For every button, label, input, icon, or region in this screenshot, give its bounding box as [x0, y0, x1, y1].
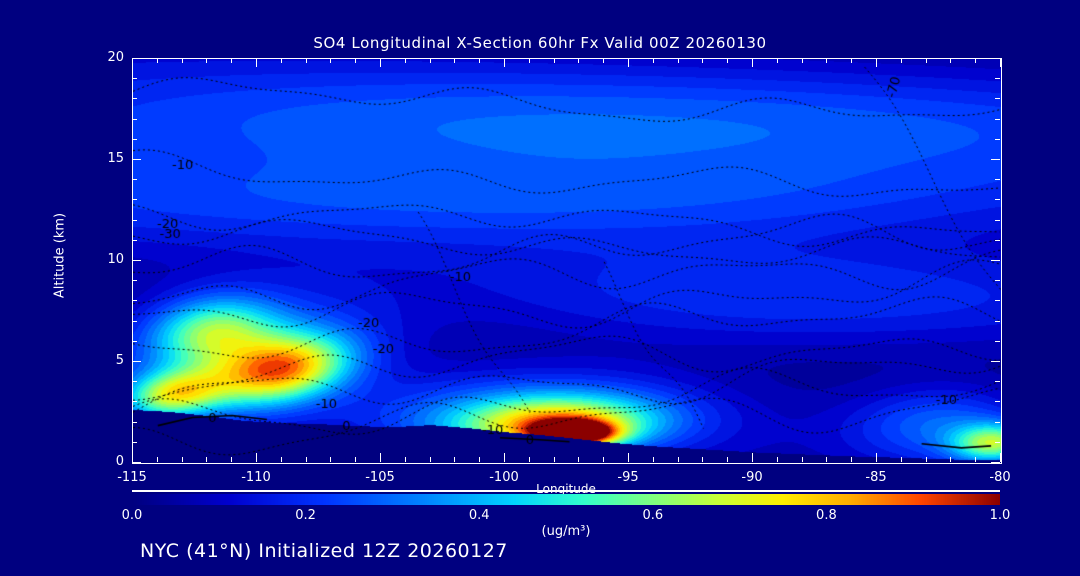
- axis-tick-mark: [995, 199, 1000, 200]
- axis-tick-mark: [281, 457, 282, 462]
- axis-tick-mark: [653, 58, 654, 63]
- axis-tick-mark: [529, 457, 530, 462]
- axis-tick-mark: [678, 457, 679, 462]
- axis-tick-mark: [132, 78, 137, 79]
- y-tick-label: 0: [84, 454, 124, 469]
- axis-tick-mark: [995, 381, 1000, 382]
- colorbar-tick-label: 0.6: [623, 508, 683, 523]
- colorbar-tick-label: 1.0: [970, 508, 1030, 523]
- axis-tick-mark: [851, 58, 852, 63]
- axis-tick-mark: [132, 260, 141, 261]
- axis-tick-mark: [504, 58, 505, 67]
- axis-tick-mark: [727, 457, 728, 462]
- axis-tick-mark: [355, 457, 356, 462]
- x-tick-label: -95: [598, 470, 658, 485]
- axis-tick-mark: [991, 58, 1000, 59]
- axis-tick-mark: [529, 58, 530, 63]
- axis-tick-mark: [330, 457, 331, 462]
- axis-tick-mark: [975, 58, 976, 63]
- axis-tick-mark: [454, 457, 455, 462]
- axis-tick-mark: [132, 442, 137, 443]
- x-tick-label: -105: [350, 470, 410, 485]
- axis-tick-mark: [991, 260, 1000, 261]
- axis-tick-mark: [950, 58, 951, 63]
- axis-tick-mark: [182, 457, 183, 462]
- axis-tick-mark: [132, 381, 137, 382]
- axis-tick-mark: [995, 98, 1000, 99]
- axis-tick-mark: [554, 457, 555, 462]
- axis-tick-mark: [777, 58, 778, 63]
- colorbar-tick-label: 0.0: [102, 508, 162, 523]
- axis-tick-mark: [876, 58, 877, 67]
- axis-tick-mark: [479, 58, 480, 63]
- x-tick-label: -100: [474, 470, 534, 485]
- axis-tick-mark: [628, 453, 629, 462]
- axis-tick-mark: [231, 457, 232, 462]
- axis-tick-mark: [995, 220, 1000, 221]
- axis-tick-mark: [991, 462, 1000, 463]
- axis-tick-mark: [132, 58, 133, 67]
- axis-tick-mark: [995, 341, 1000, 342]
- axis-tick-mark: [1000, 453, 1001, 462]
- axis-tick-mark: [306, 58, 307, 63]
- axis-tick-mark: [132, 280, 137, 281]
- axis-tick-mark: [132, 220, 137, 221]
- axis-tick-mark: [256, 453, 257, 462]
- chart-title: SO4 Longitudinal X-Section 60hr Fx Valid…: [0, 34, 1080, 52]
- axis-tick-mark: [380, 58, 381, 67]
- axis-tick-mark: [991, 361, 1000, 362]
- x-tick-label: -90: [722, 470, 782, 485]
- axis-tick-mark: [206, 58, 207, 63]
- axis-tick-mark: [603, 457, 604, 462]
- axis-tick-mark: [430, 58, 431, 63]
- axis-tick-mark: [826, 58, 827, 63]
- axis-tick-mark: [995, 139, 1000, 140]
- axis-tick-mark: [182, 58, 183, 63]
- y-tick-label: 20: [84, 50, 124, 65]
- axis-tick-mark: [231, 58, 232, 63]
- axis-tick-mark: [991, 159, 1000, 160]
- axis-tick-mark: [132, 199, 137, 200]
- x-tick-label: -80: [970, 470, 1030, 485]
- chart-caption: NYC (41°N) Initialized 12Z 20260127: [140, 540, 508, 562]
- axis-tick-mark: [702, 58, 703, 63]
- x-tick-label: -85: [846, 470, 906, 485]
- axis-tick-mark: [678, 58, 679, 63]
- axis-tick-mark: [504, 453, 505, 462]
- axis-tick-mark: [554, 58, 555, 63]
- axis-tick-mark: [157, 457, 158, 462]
- axis-tick-mark: [901, 58, 902, 63]
- axis-tick-mark: [802, 457, 803, 462]
- axis-tick-mark: [256, 58, 257, 67]
- axis-tick-mark: [926, 457, 927, 462]
- axis-tick-mark: [578, 58, 579, 63]
- axis-tick-mark: [995, 179, 1000, 180]
- axis-tick-mark: [876, 453, 877, 462]
- axis-tick-mark: [995, 422, 1000, 423]
- axis-tick-mark: [355, 58, 356, 63]
- axis-tick-mark: [995, 119, 1000, 120]
- axis-tick-mark: [995, 240, 1000, 241]
- axis-tick-mark: [132, 179, 137, 180]
- axis-tick-mark: [926, 58, 927, 63]
- axis-tick-mark: [628, 58, 629, 67]
- colorbar-tick-label: 0.8: [796, 508, 856, 523]
- axis-tick-mark: [727, 58, 728, 63]
- plot-area: [132, 58, 1002, 464]
- axis-tick-mark: [132, 422, 137, 423]
- contour-field-canvas: [133, 59, 1001, 463]
- axis-tick-mark: [995, 401, 1000, 402]
- axis-tick-mark: [132, 119, 137, 120]
- axis-tick-mark: [157, 58, 158, 63]
- colorbar: [132, 494, 1000, 505]
- axis-tick-mark: [901, 457, 902, 462]
- colorbar-units: (ug/m³): [132, 524, 1000, 539]
- x-tick-label: -110: [226, 470, 286, 485]
- axis-tick-mark: [1000, 58, 1001, 67]
- colorbar-top-rule: [132, 490, 1000, 492]
- axis-tick-mark: [430, 457, 431, 462]
- axis-tick-mark: [132, 462, 141, 463]
- axis-tick-mark: [306, 457, 307, 462]
- axis-tick-mark: [132, 159, 141, 160]
- axis-tick-mark: [578, 457, 579, 462]
- axis-tick-mark: [851, 457, 852, 462]
- axis-tick-mark: [752, 453, 753, 462]
- axis-tick-mark: [995, 78, 1000, 79]
- axis-tick-mark: [132, 240, 137, 241]
- axis-tick-mark: [132, 401, 137, 402]
- y-axis-label: Altitude (km): [53, 186, 68, 326]
- axis-tick-mark: [950, 457, 951, 462]
- y-tick-label: 5: [84, 353, 124, 368]
- axis-tick-mark: [405, 457, 406, 462]
- axis-tick-mark: [405, 58, 406, 63]
- axis-tick-mark: [975, 457, 976, 462]
- axis-tick-mark: [995, 300, 1000, 301]
- axis-tick-mark: [132, 139, 137, 140]
- axis-tick-mark: [995, 442, 1000, 443]
- axis-tick-mark: [454, 58, 455, 63]
- axis-tick-mark: [132, 341, 137, 342]
- axis-tick-mark: [330, 58, 331, 63]
- axis-tick-mark: [777, 457, 778, 462]
- axis-tick-mark: [132, 58, 141, 59]
- y-tick-label: 10: [84, 252, 124, 267]
- axis-tick-mark: [702, 457, 703, 462]
- axis-tick-mark: [653, 457, 654, 462]
- colorbar-tick-label: 0.4: [449, 508, 509, 523]
- axis-tick-mark: [826, 457, 827, 462]
- y-tick-label: 15: [84, 151, 124, 166]
- axis-tick-mark: [479, 457, 480, 462]
- chart-root: SO4 Longitudinal X-Section 60hr Fx Valid…: [0, 0, 1080, 576]
- axis-tick-mark: [132, 453, 133, 462]
- colorbar-tick-label: 0.2: [276, 508, 336, 523]
- axis-tick-mark: [380, 453, 381, 462]
- axis-tick-mark: [132, 361, 141, 362]
- x-tick-label: -115: [102, 470, 162, 485]
- axis-tick-mark: [752, 58, 753, 67]
- axis-tick-mark: [206, 457, 207, 462]
- axis-tick-mark: [281, 58, 282, 63]
- axis-tick-mark: [995, 321, 1000, 322]
- axis-tick-mark: [802, 58, 803, 63]
- axis-tick-mark: [995, 280, 1000, 281]
- axis-tick-mark: [132, 300, 137, 301]
- axis-tick-mark: [132, 98, 137, 99]
- axis-tick-mark: [603, 58, 604, 63]
- axis-tick-mark: [132, 321, 137, 322]
